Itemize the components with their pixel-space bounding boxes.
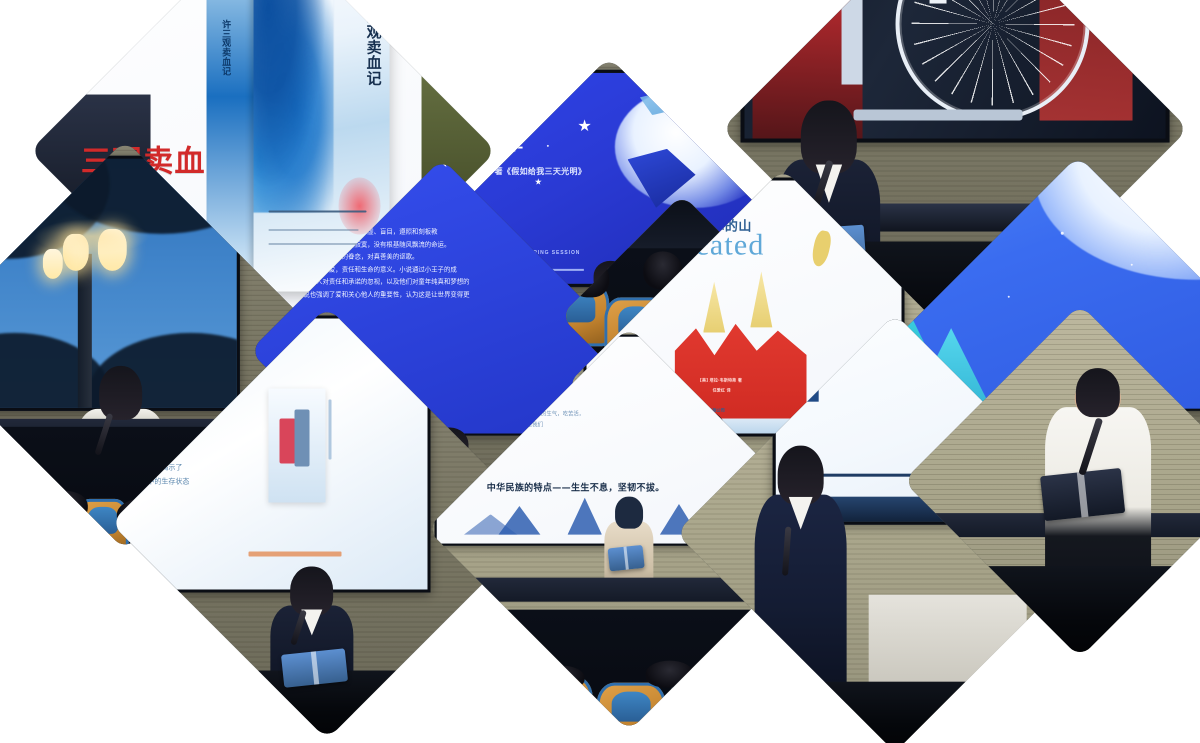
book-spine-text: 许三观卖血记 xyxy=(219,19,232,75)
presenter-figure xyxy=(755,445,847,717)
book-thumbnail xyxy=(269,389,325,503)
slide-subtitle-helen-keller: 著《假如给我三天光明》 xyxy=(495,166,587,177)
educated-author-line: [美] 塔拉·韦斯特弗 著 xyxy=(700,377,742,383)
book-cover-title: 许三观卖血记 xyxy=(365,0,381,87)
slide-highlight-line: 中华民族的特点——生生不息，坚韧不拔。 xyxy=(487,481,665,494)
educated-translator-line: 任爱红 译 xyxy=(713,387,731,393)
photo-collage: 三观卖血记》 好书分享 许三观卖血记 余华 许三观卖血记 xyxy=(0,0,1200,743)
